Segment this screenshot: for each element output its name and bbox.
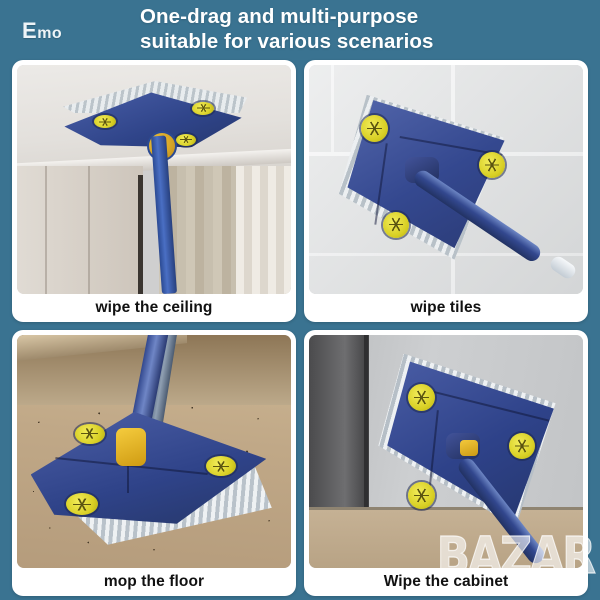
headline: One-drag and multi-purpose suitable for … — [140, 4, 560, 54]
disc-icon — [176, 134, 196, 146]
yellow-clamp — [116, 428, 146, 466]
panel-wipe-the-cabinet[interactable]: Wipe the cabinet — [304, 330, 588, 596]
scene-tiles — [309, 65, 583, 294]
headline-line-1: One-drag and multi-purpose — [140, 4, 560, 29]
dark-cabinet-panel — [309, 335, 369, 507]
photo-wipe-tiles — [309, 65, 583, 294]
panel-caption: Wipe the cabinet — [304, 568, 588, 596]
header: Emo One-drag and multi-purpose suitable … — [0, 0, 600, 56]
disc-icon — [383, 212, 409, 238]
photo-wipe-the-cabinet — [309, 335, 583, 568]
disc-icon — [75, 424, 105, 444]
panel-wipe-the-ceiling[interactable]: wipe the ceiling — [12, 60, 296, 322]
photo-wipe-the-ceiling — [17, 65, 291, 294]
panel-caption: mop the floor — [12, 568, 296, 596]
cabinet-edge — [364, 335, 368, 507]
brand-logo: Emo — [22, 18, 62, 44]
panel-caption: wipe the ceiling — [12, 294, 296, 322]
brand-logo-initial: E — [22, 18, 37, 43]
panel-mop-the-floor[interactable]: mop the floor — [12, 330, 296, 596]
disc-icon — [408, 384, 435, 411]
panel-caption: wipe tiles — [304, 294, 588, 322]
wardrobe-gap — [138, 175, 143, 294]
disc-icon — [192, 102, 214, 115]
panel-wipe-tiles[interactable]: wipe tiles — [304, 60, 588, 322]
product-feature-image: Emo One-drag and multi-purpose suitable … — [0, 0, 600, 600]
disc-icon — [479, 152, 505, 178]
wardrobe-wall — [17, 166, 143, 294]
brand-logo-rest: mo — [37, 25, 62, 42]
floor-line — [309, 507, 583, 510]
sheer-curtain — [236, 166, 291, 294]
headline-line-2: suitable for various scenarios — [140, 29, 560, 54]
disc-icon — [509, 433, 535, 459]
scene-ceiling — [17, 65, 291, 294]
photo-mop-the-floor — [17, 335, 291, 568]
scene-cabinet — [309, 335, 583, 568]
panel-grid: wipe the ceiling — [0, 56, 600, 600]
disc-icon — [408, 482, 435, 509]
yellow-clamp — [460, 440, 478, 456]
scene-floor — [17, 335, 291, 568]
